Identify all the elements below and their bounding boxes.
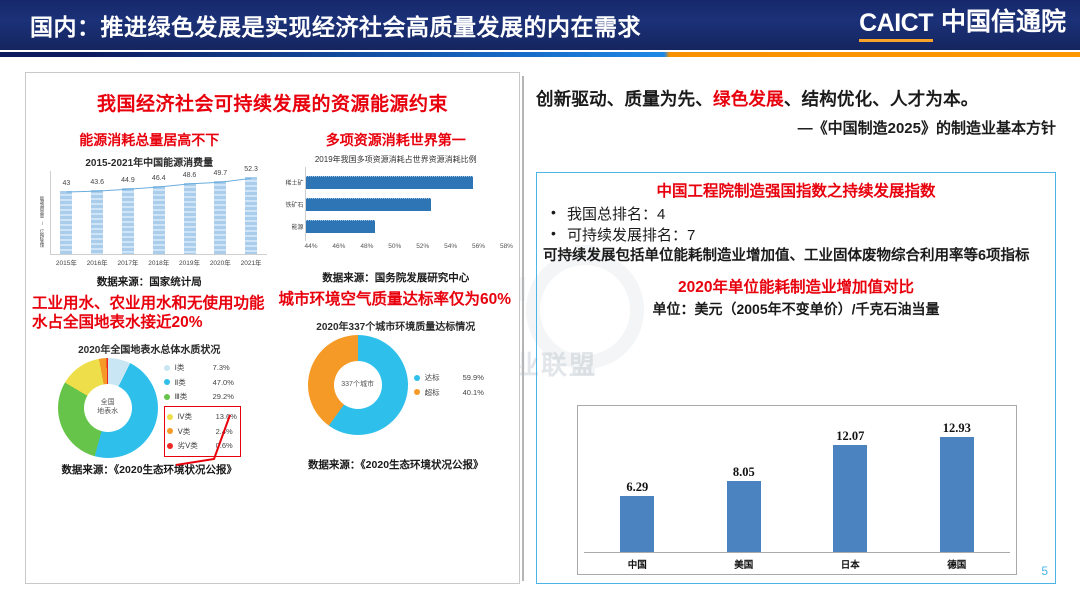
col1-subheading: 能源消耗总量居高不下 xyxy=(32,130,267,150)
bar: 8.05 xyxy=(727,481,761,552)
legend-value: 40.1% xyxy=(463,388,484,397)
intensity-chart-xaxis: 中国美国日本德国 xyxy=(584,552,1010,574)
slide-header: 国内：推进绿色发展是实现经济社会高质量发展的内在需求 CAICT 中国信通院 xyxy=(0,0,1080,50)
page-title: 国内：推进绿色发展是实现经济社会高质量发展的内在需求 xyxy=(30,8,641,42)
x-tick-label: 2019年 xyxy=(179,257,200,267)
intensity-chart-title: 2020年单位能耗制造业增加值对比 xyxy=(537,275,1055,297)
city-air-donut: 337个城市 xyxy=(308,335,408,435)
x-tick-label: 2017年 xyxy=(117,257,138,267)
x-tick-label: 2020年 xyxy=(210,257,231,267)
sustainability-box-title: 中国工程院制造强国指数之持续发展指数 xyxy=(537,179,1055,201)
legend-item: Ⅱ类47.0% xyxy=(164,377,241,388)
legend-color-swatch xyxy=(414,375,420,381)
x-tick-label: 52% xyxy=(416,243,429,250)
legend-color-swatch xyxy=(164,394,170,400)
bar: 43 xyxy=(60,191,72,254)
quote-highlight: 绿色发展 xyxy=(713,89,784,109)
resource-chart-title: 2019年我国多项资源消耗占世界资源消耗比例 xyxy=(279,154,514,165)
bar-value-label: 43.6 xyxy=(90,179,104,186)
surface-water-center-label: 全国地表水 xyxy=(58,358,158,458)
legend-item: Ⅲ类29.2% xyxy=(164,391,241,402)
legend-item: Ⅰ类7.3% xyxy=(164,362,241,373)
left-column-1: 能源消耗总量居高不下 2015-2021年中国能源消费量 能源消费总量 / 亿吨… xyxy=(26,126,273,477)
bar-row: 稀土矿 xyxy=(306,174,514,190)
bar: 46.4 xyxy=(153,186,165,254)
legend-label: Ⅲ类 xyxy=(175,391,201,402)
bar: 6.29 xyxy=(620,496,654,552)
quote-attribution: —《中国制造2025》的制造业基本方针 xyxy=(536,117,1056,138)
bar xyxy=(306,176,473,189)
legend-label: 达标 xyxy=(425,372,451,383)
bar xyxy=(306,198,431,211)
left-panel: 我国经济社会可持续发展的资源能源约束 能源消耗总量居高不下 2015-2021年… xyxy=(25,72,520,584)
x-tick-label: 2016年 xyxy=(87,257,108,267)
x-tick-label: 44% xyxy=(305,243,318,250)
legend-value: 47.0% xyxy=(213,378,234,387)
bullet-item: 我国总排名：4 xyxy=(551,204,1055,225)
legend-label: 超标 xyxy=(425,387,451,398)
panel-divider xyxy=(522,76,524,581)
col2-source-2: 数据来源：《2020生态环境状况公报》 xyxy=(279,457,514,472)
bar-row: 铁矿石 xyxy=(306,196,514,212)
bar-value-label: 6.29 xyxy=(626,480,648,495)
bar-row: 能源 xyxy=(306,218,514,234)
col1-source-1: 数据来源：国家统计局 xyxy=(32,274,267,289)
logo-chinese-text: 中国信通院 xyxy=(941,2,1066,42)
bar: 44.9 xyxy=(122,188,134,254)
logo-caict-text: CAICT xyxy=(859,9,933,42)
bar: 48.6 xyxy=(184,183,196,254)
bar: 49.7 xyxy=(214,181,226,254)
bar: 12.07 xyxy=(833,445,867,552)
right-panel: 创新驱动、质量为先、绿色发展、结构优化、人才为本。 —《中国制造2025》的制造… xyxy=(536,72,1056,584)
resource-chart-xaxis: 44%46%48%50%52%54%56%58% xyxy=(305,243,514,250)
x-tick-label: 56% xyxy=(472,243,485,250)
x-tick-label: 50% xyxy=(388,243,401,250)
bar-value-label: 49.7 xyxy=(213,170,227,177)
x-tick-label: 48% xyxy=(360,243,373,250)
bar-category-label: 铁矿石 xyxy=(280,200,304,209)
energy-chart-ylabel: 能源消费总量 / 亿吨标准煤 xyxy=(32,185,44,257)
bar-category-label: 能源 xyxy=(280,222,304,231)
sustainability-note: 可持续发展包括单位能耗制造业增加值、工业固体废物综合利用率等6项指标 xyxy=(537,247,1055,266)
legend-label: Ⅰ类 xyxy=(175,362,201,373)
callout-connector xyxy=(174,413,234,473)
x-tick-label: 日本 xyxy=(841,557,860,571)
col2-source-1: 数据来源：国务院发展研究中心 xyxy=(279,270,514,285)
energy-chart-xaxis: 2015年2016年2017年2018年2019年2020年2021年 xyxy=(50,257,267,267)
header-accent-line xyxy=(0,52,1080,57)
bullet-item: 可持续发展排名：7 xyxy=(551,225,1055,246)
col2-subheading: 多项资源消耗世界第一 xyxy=(279,130,514,150)
x-tick-label: 58% xyxy=(500,243,513,250)
water-chart-title: 2020年全国地表水总体水质状况 xyxy=(32,341,267,356)
legend-item: 达标59.9% xyxy=(414,372,484,383)
bar: 12.93 xyxy=(940,437,974,552)
energy-chart-plot: 4343.644.946.448.649.752.3 xyxy=(50,171,267,255)
intensity-chart-plot: 6.298.0512.0712.93 xyxy=(584,412,1010,552)
bar-value-label: 8.05 xyxy=(733,465,755,480)
sustainability-box: 中国工程院制造强国指数之持续发展指数 我国总排名：4可持续发展排名：7 可持续发… xyxy=(536,172,1056,584)
bar-category-label: 稀土矿 xyxy=(280,178,304,187)
x-tick-label: 中国 xyxy=(628,557,647,571)
caict-logo: CAICT 中国信通院 xyxy=(859,8,1066,42)
legend-value: 59.9% xyxy=(463,373,484,382)
bar-value-label: 52.3 xyxy=(244,166,258,173)
resource-chart-plot: 稀土矿铁矿石能源 xyxy=(305,167,514,241)
x-tick-label: 2018年 xyxy=(148,257,169,267)
bar: 43.6 xyxy=(91,190,103,254)
legend-color-swatch xyxy=(167,414,173,420)
bar-value-label: 46.4 xyxy=(152,175,166,182)
manufacturing-policy-quote: 创新驱动、质量为先、绿色发展、结构优化、人才为本。 xyxy=(536,86,1056,111)
x-tick-label: 2021年 xyxy=(241,257,262,267)
col2-red-text: 城市环境空气质量达标率仅为60% xyxy=(279,291,514,310)
bar xyxy=(306,220,376,233)
bar-value-label: 48.6 xyxy=(183,172,197,179)
energy-consumption-chart: 能源消费总量 / 亿吨标准煤 4343.644.946.448.649.752.… xyxy=(32,171,267,271)
city-air-legend: 达标59.9%超标40.1% xyxy=(414,369,484,402)
page-number: 5 xyxy=(1041,564,1048,578)
bar: 52.3 xyxy=(245,177,257,254)
legend-color-swatch xyxy=(164,365,170,371)
x-tick-label: 46% xyxy=(332,243,345,250)
legend-color-swatch xyxy=(167,428,173,434)
legend-value: 7.3% xyxy=(213,363,230,372)
city-chart-title: 2020年337个城市环境质量达标情况 xyxy=(279,318,514,333)
legend-item: 超标40.1% xyxy=(414,387,484,398)
intensity-chart-subtitle: 单位：美元（2005年不变单价）/千克石油当量 xyxy=(537,299,1055,319)
x-tick-label: 54% xyxy=(444,243,457,250)
x-tick-label: 2015年 xyxy=(56,257,77,267)
left-panel-columns: 能源消耗总量居高不下 2015-2021年中国能源消费量 能源消费总量 / 亿吨… xyxy=(26,126,519,477)
left-column-2: 多项资源消耗世界第一 2019年我国多项资源消耗占世界资源消耗比例 稀土矿铁矿石… xyxy=(273,126,520,477)
bar-value-label: 43 xyxy=(62,180,70,187)
bar-value-label: 12.07 xyxy=(836,429,864,444)
city-air-center-label: 337个城市 xyxy=(308,335,408,435)
energy-chart-title: 2015-2021年中国能源消费量 xyxy=(32,154,267,169)
energy-intensity-chart: 6.298.0512.0712.93 中国美国日本德国 xyxy=(577,405,1017,575)
bar-value-label: 44.9 xyxy=(121,177,135,184)
quote-part-2: 、结构优化、人才为本。 xyxy=(784,89,979,109)
left-panel-title: 我国经济社会可持续发展的资源能源约束 xyxy=(26,89,519,116)
x-tick-label: 德国 xyxy=(947,557,966,571)
quote-part-1: 创新驱动、质量为先、 xyxy=(536,89,713,109)
col1-red-text: 工业用水、农业用水和无使用功能水占全国地表水接近20% xyxy=(32,295,267,333)
x-tick-label: 美国 xyxy=(734,557,753,571)
sustainability-bullet-list: 我国总排名：4可持续发展排名：7 xyxy=(537,204,1055,247)
legend-color-swatch xyxy=(164,379,170,385)
legend-color-swatch xyxy=(167,443,173,449)
city-air-chart: 337个城市 达标59.9%超标40.1% xyxy=(279,335,514,435)
bar-value-label: 12.93 xyxy=(943,421,971,436)
surface-water-donut: 全国地表水 xyxy=(58,358,158,458)
legend-value: 29.2% xyxy=(213,392,234,401)
legend-label: Ⅱ类 xyxy=(175,377,201,388)
legend-color-swatch xyxy=(414,389,420,395)
resource-share-chart: 稀土矿铁矿石能源 44%46%48%50%52%54%56%58% xyxy=(279,167,514,267)
